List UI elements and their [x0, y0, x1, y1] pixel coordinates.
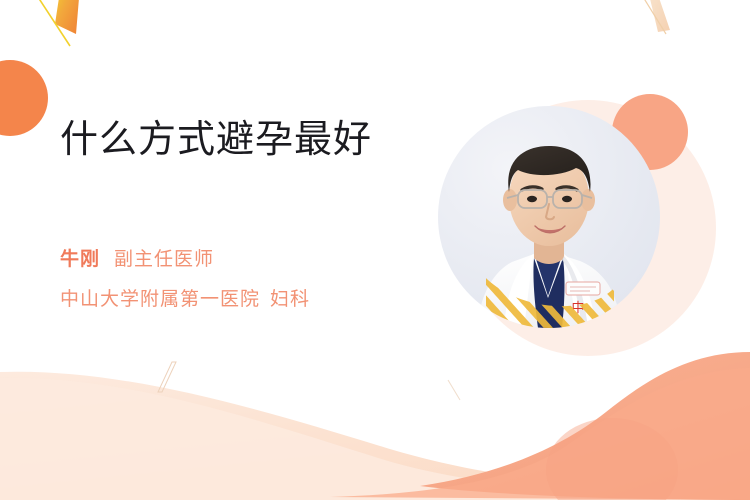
- doctor-portrait-illustration: 中: [438, 106, 660, 328]
- avatar: 中: [438, 106, 660, 328]
- diagonal-stroke-orange-icon: [55, 0, 80, 34]
- diagonal-line-peach-icon: [158, 362, 176, 392]
- name-badge: [566, 282, 600, 295]
- doctor-ear-right: [581, 189, 595, 211]
- doctor-department: 妇科: [270, 289, 310, 310]
- diagonal-line-yellow-icon: [36, 0, 70, 46]
- doctor-identity-line: 牛刚副主任医师: [60, 250, 214, 269]
- doctor-affiliation-line: 中山大学附属第一医院妇科: [60, 290, 310, 309]
- peach-wave-shape: [0, 372, 750, 500]
- doctor-eye-right: [562, 196, 572, 202]
- orange-circle-icon: [0, 60, 48, 136]
- salmon-wave-shape-lower: [330, 368, 750, 500]
- doctor-hospital: 中山大学附属第一医院: [60, 289, 260, 310]
- peach-wave-shape-secondary: [0, 378, 750, 500]
- page-title: 什么方式避孕最好: [60, 118, 372, 163]
- diagonal-line-faint-icon: [448, 380, 460, 400]
- portrait-group: 中: [416, 78, 716, 378]
- doctor-ear-left: [503, 189, 517, 211]
- salmon-wave-bump: [546, 418, 678, 500]
- video-cover: 什么方式避孕最好 牛刚副主任医师 中山大学附属第一医院妇科: [0, 0, 750, 500]
- diagonal-stroke-peach-icon: [640, 0, 670, 34]
- doctor-rank: 副主任医师: [114, 249, 214, 270]
- doctor-name: 牛刚: [60, 249, 100, 270]
- doctor-eye-left: [527, 196, 537, 202]
